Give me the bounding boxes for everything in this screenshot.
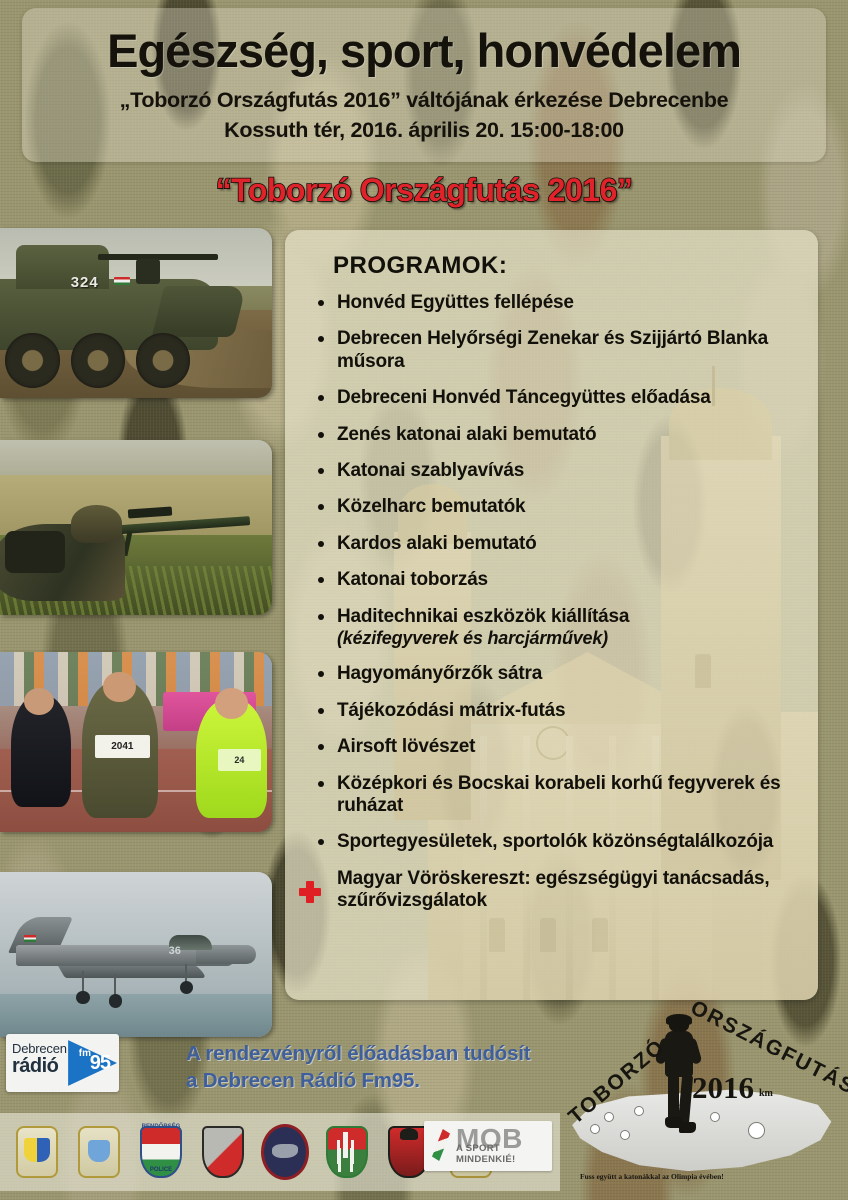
emblem-hungary-map-circular-badge [258,1122,312,1182]
list-item-label: Debreceni Honvéd Táncegyüttes előadása [337,387,711,408]
race-bib-secondary: 24 [218,749,262,771]
list-item: Tájékozódási mátrix-futás [315,700,815,722]
broadcast-note: A rendezvényről élőadásban tudósít a Deb… [186,1040,530,1094]
bullet-icon [318,468,324,474]
list-item: Debreceni Honvéd Táncegyüttes előadása [315,387,815,409]
radio-logo-frequency: 95 [90,1052,110,1075]
list-item-label: Katonai toborzás [337,569,488,590]
photo-sniper-soldier [0,440,272,615]
list-item: Katonai toborzás [315,569,815,591]
program-list: Honvéd Együttes fellépése Debrecen Helyő… [315,292,815,927]
page-title: Egészség, sport, honvédelem [22,26,826,75]
list-item-label: Középkori és Bocskai korabeli korhű fegy… [337,773,780,816]
bullet-icon [318,577,324,583]
emblem-hungarian-defence-forces-badge [320,1122,374,1182]
list-item-label: Honvéd Együttes fellépése [337,292,574,313]
poster: Egészség, sport, honvédelem „Toborzó Ors… [0,0,848,1200]
list-item: Katonai szablyavívás [315,460,815,482]
list-item-label: Haditechnikai eszközök kiállítása [337,606,629,627]
bullet-icon [318,614,324,620]
list-item: Kardos alaki bemutató [315,533,815,555]
event-name-title: “Toborzó Országfutás 2016” [0,172,848,209]
list-item: Magyar Vöröskereszt: egészségügyi tanács… [315,868,815,913]
list-item-label: Közelharc bemutatók [337,496,525,517]
list-item-label: Debrecen Helyőrségi Zenekar és Szijjártó… [337,328,768,371]
bullet-icon [318,671,324,677]
radio-logo-line-1: Debrecen [12,1042,67,1056]
emblem-debrecen-city-coat-of-arms [10,1122,64,1182]
broadcast-note-line-2: a Debrecen Rádió Fm95. [186,1067,530,1094]
broadcast-note-line-1: A rendezvényről élőadásban tudósít [186,1040,530,1067]
mob-flame-icon [432,1129,450,1161]
red-cross-icon [299,881,321,903]
vehicle-number: 324 [71,274,99,291]
logo-year: 2016 [692,1070,754,1106]
bullet-icon [318,504,324,510]
bullet-icon [318,395,324,401]
bullet-icon [318,744,324,750]
race-bib-number: 2041 [95,735,149,758]
hungarian-flag-icon [24,935,36,942]
list-item-label: Zenés katonai alaki bemutató [337,424,596,445]
toborzo-orszagfutas-logo: TOBORZÓ ORSZÁGFUTÁS 2016 km Fuss együtt … [552,1012,848,1188]
list-item-label: Sportegyesületek, sportolók közönségtalá… [337,831,773,852]
list-item: Közelharc bemutatók [315,496,815,518]
program-heading: PROGRAMOK: [333,252,507,280]
bullet-icon [318,432,324,438]
list-item: Haditechnikai eszközök kiállítása (kézif… [315,606,815,650]
aircraft-number: 36 [169,945,181,957]
logo-unit: km [759,1088,773,1099]
list-item-label: Tájékozódási mátrix-futás [337,700,565,721]
bullet-icon [318,781,324,787]
list-item: Középkori és Bocskai korabeli korhű fegy… [315,773,815,818]
bullet-icon [318,708,324,714]
list-item: Zenés katonai alaki bemutató [315,424,815,446]
logo-tagline: Fuss együtt a katonákkal az Olimpia évéb… [580,1172,724,1181]
bullet-icon [318,839,324,845]
photo-armored-personnel-carrier: 324 [0,228,272,398]
list-item: Sportegyesületek, sportolók közönségtalá… [315,831,815,853]
list-item-label: Airsoft lövészet [337,736,475,757]
debrecen-radio-logo: Debrecen rádió fm 95 [6,1034,119,1092]
emblem-hajdu-bihar-county-coat-of-arms [72,1122,126,1182]
emblem-military-unit-shield-badge [196,1122,250,1182]
mob-logo: MOB A SPORT MINDENKIÉ! [424,1121,552,1171]
list-item: Airsoft lövészet [315,736,815,758]
list-item: Honvéd Együttes fellépése [315,292,815,314]
list-item-label: Hagyományőrzők sátra [337,663,542,684]
list-item-label: Kardos alaki bemutató [337,533,537,554]
list-item-label: Katonai szablyavívás [337,460,524,481]
photo-gripen-fighter-jet: 36 [0,872,272,1037]
list-item-sublabel: (kézifegyverek és harcjárművek) [337,628,815,649]
photo-runners-at-race: 24 2041 [0,652,272,832]
list-item: Debrecen Helyőrségi Zenekar és Szijjártó… [315,328,815,373]
hungarian-flag-icon [114,277,130,285]
radio-logo-line-2: rádió [12,1056,67,1077]
bullet-icon [318,336,324,342]
subtitle-line-1: „Toborzó Országfutás 2016” váltójának ér… [22,88,826,113]
list-item-label: Magyar Vöröskereszt: egészségügyi tanács… [337,868,769,911]
bullet-icon [318,300,324,306]
mob-logo-slogan: A SPORT MINDENKIÉ! [456,1143,552,1165]
bullet-icon [318,541,324,547]
emblem-hungarian-police-rendorseg-badge: RENDŐRSÉG POLICE [134,1122,188,1182]
subtitle-line-2: Kossuth tér, 2016. április 20. 15:00-18:… [22,118,826,143]
list-item: Hagyományőrzők sátra [315,663,815,685]
